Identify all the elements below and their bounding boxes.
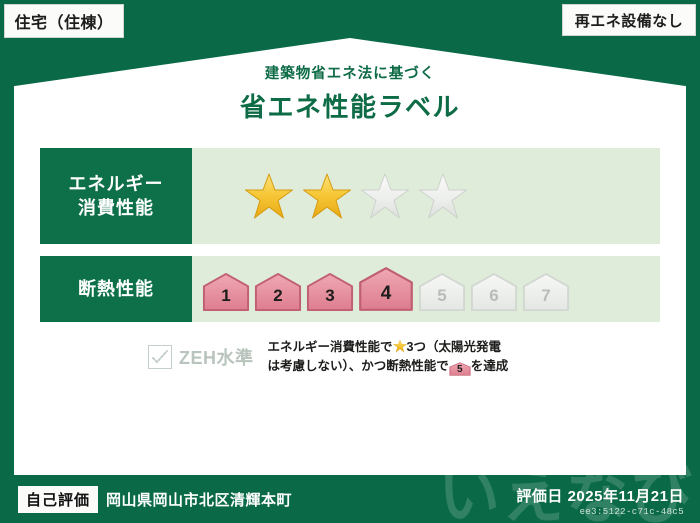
zeh-standard-label: ZEH水準 [179, 344, 254, 370]
inline-house-icon: 5 [449, 362, 471, 376]
zeh-standard-marker: ZEH水準 [40, 344, 254, 370]
insulation-level-7: 7 [522, 272, 570, 312]
row-energy-body [192, 148, 660, 244]
insulation-level-number: 3 [325, 286, 334, 312]
insulation-level-number: 5 [437, 286, 446, 312]
row-insulation-label: 断熱性能 [40, 256, 192, 322]
row-insulation-body: 1234567 [192, 256, 660, 322]
note-line2-a: は考慮しない）、かつ断熱性能で [268, 359, 449, 373]
evaluation-date: 評価日 2025年11月21日 [516, 485, 684, 506]
zeh-note-block: ZEH水準 エネルギー消費性能で3つ（太陽光発電 は考慮しない）、かつ断熱性能で… [40, 338, 660, 377]
star-filled-icon [302, 172, 352, 220]
row-energy-label-line2: 消費性能 [78, 196, 154, 220]
achievement-note: エネルギー消費性能で3つ（太陽光発電 は考慮しない）、かつ断熱性能で5を達成 [268, 338, 509, 377]
title-subtitle: 建築物省エネ法に基づく [14, 62, 686, 83]
insulation-level-2: 2 [254, 272, 302, 312]
energy-performance-label: 住宅（住棟） 再エネ設備なし 建築物省エネ法に基づく 省エネ性能ラベル エネルギ… [0, 0, 700, 523]
star-rating [192, 172, 468, 220]
row-insulation-performance: 断熱性能 1234567 [40, 256, 660, 322]
insulation-level-3: 3 [306, 272, 354, 312]
star-icon [393, 339, 407, 353]
star-empty-icon [418, 172, 468, 220]
row-energy-label-line1: エネルギー [69, 172, 164, 196]
insulation-level-scale: 1234567 [192, 266, 570, 312]
insulation-level-4: 4 [358, 266, 414, 312]
insulation-level-6: 6 [470, 272, 518, 312]
star-empty-icon [360, 172, 410, 220]
footer: いえなび 自己評価 岡山県岡山市北区清輝本町 評価日 2025年11月21日 e… [0, 475, 700, 523]
note-line1-a: エネルギー消費性能で [268, 340, 393, 354]
zeh-checkbox-icon [148, 345, 172, 369]
evaluation-id: ee3:5122-c71c-48c5 [516, 507, 684, 517]
insulation-level-5: 5 [418, 272, 466, 312]
footer-right: 評価日 2025年11月21日 ee3:5122-c71c-48c5 [516, 485, 684, 517]
insulation-level-number: 7 [541, 286, 550, 312]
row-energy-label: エネルギー 消費性能 [40, 148, 192, 244]
property-address: 岡山県岡山市北区清輝本町 [106, 489, 292, 510]
inline-house-level: 5 [449, 362, 471, 378]
page-title: 省エネ性能ラベル [14, 87, 686, 124]
footer-left: 自己評価 岡山県岡山市北区清輝本町 [18, 486, 292, 513]
insulation-level-1: 1 [202, 272, 250, 312]
title-block: 建築物省エネ法に基づく 省エネ性能ラベル [14, 62, 686, 124]
row-energy-consumption: エネルギー 消費性能 [40, 148, 660, 244]
note-line1-b: 3つ（太陽光発電 [407, 340, 501, 354]
insulation-level-number: 2 [273, 286, 282, 312]
badge-house-type: 住宅（住棟） [4, 4, 124, 38]
status-badge-self-evaluation: 自己評価 [18, 486, 98, 513]
note-line2-b: を達成 [471, 359, 509, 373]
row-insulation-label-line1: 断熱性能 [78, 277, 154, 301]
insulation-level-number: 6 [489, 286, 498, 312]
badge-renewable-equipment: 再エネ設備なし [562, 4, 696, 36]
insulation-level-number: 4 [381, 283, 392, 312]
insulation-level-number: 1 [221, 286, 230, 312]
star-filled-icon [244, 172, 294, 220]
label-panel: 建築物省エネ法に基づく 省エネ性能ラベル エネルギー 消費性能 断熱性能 123… [14, 38, 686, 475]
